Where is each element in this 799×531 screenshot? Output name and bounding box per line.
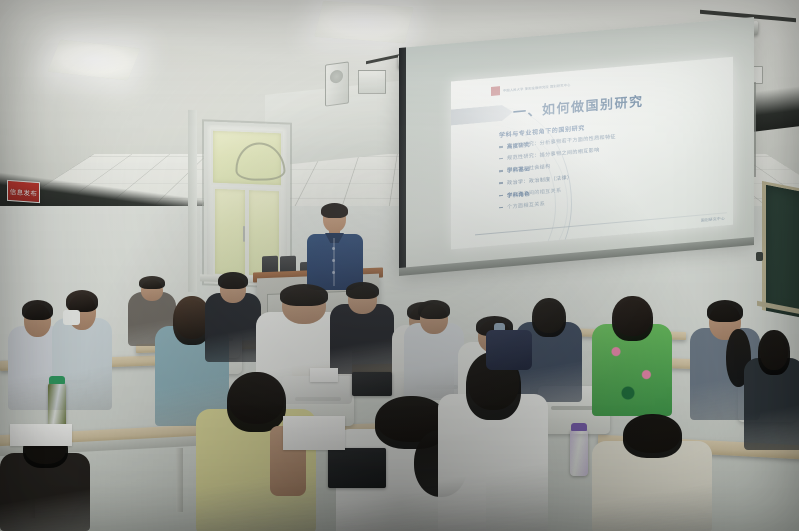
chalkboard [762,181,799,320]
audience-member [205,272,261,362]
person-hair [707,300,743,322]
presentation-slide: 中国人民大学 重阳金融研究院 国别研究中心 一、如何做国别研究 学科与专业视角下… [451,57,733,250]
backpack [486,330,532,370]
projection-screen: 中国人民大学 重阳金融研究院 国别研究中心 一、如何做国别研究 学科与专业视角下… [399,17,754,270]
door-jamb [188,110,197,292]
shirt-button-icon [332,271,335,274]
person-torso [330,304,394,374]
slide-logo-text: 中国人民大学 重阳金融研究院 国别研究中心 [503,81,571,92]
bullet-dash-icon [499,171,503,173]
window-handle[interactable] [243,226,245,242]
wall-sign-text: 信息发布 [10,186,38,198]
tablet-device [328,448,386,488]
person-hair [227,372,286,432]
face-mask-icon [63,310,80,325]
classroom-photo: 信息发布 ELECTRIC SCREEN 中国人民大学 重阳金融研究院 国别研究… [0,0,799,531]
shirt-button-icon [332,259,335,262]
person-hair [532,298,566,337]
bullet-dash-icon [499,146,503,148]
presenter [305,205,365,285]
slide-bullet-text: 政治学：政治制度（法律） [507,173,572,186]
person-hair [623,414,682,458]
bullet-dash-icon [499,195,503,197]
person-hair [758,330,790,375]
person-hair [418,300,450,319]
slide-bullet-text: 学科角色 [507,189,530,199]
window-pane-left [213,187,247,277]
bullet-dash-icon [499,207,503,209]
person-hair [612,296,653,341]
bottle-cap [49,376,65,384]
shirt-button-icon [332,247,335,250]
wall-sign: 信息发布 [7,180,40,203]
audience-member [196,372,316,531]
presenter-placket [333,238,335,286]
audience-member [592,414,712,531]
bullet-dash-icon [499,182,503,184]
arch-decoration [234,142,286,181]
board-knob [756,252,763,261]
person-hair [22,300,53,320]
audience-member [744,330,799,450]
desk-leg [176,448,183,512]
control-box [358,70,386,94]
slide-bullet-text: 高度研究 [507,141,530,151]
slide-footer: 国别研究中心 [701,216,725,223]
ceiling-light [314,1,413,43]
water-bottle [570,430,588,476]
audience-member [592,296,672,416]
person-hair [139,276,165,289]
bottle-cap [571,423,587,431]
audience-member [330,282,394,374]
slide-bullet-text: 学科基础 [507,165,530,175]
tablet-device [352,372,392,396]
presenter-hair [321,203,348,218]
screen-edge [399,47,406,270]
slide-bullet-text: 个方面相互关系 [507,200,545,210]
person-torso [205,293,261,362]
person-hair [218,272,248,289]
window-pane-top [211,129,283,188]
paper-sheet [10,424,72,446]
slide-logo: 中国人民大学 重阳金融研究院 国别研究中心 [491,79,571,96]
paper-sheet [310,368,338,382]
power-cord [754,82,756,177]
person-hair [346,282,379,299]
person-hair [280,284,328,306]
slide-title: 一、如何做国别研究 [513,91,644,121]
speaker-icon [325,61,349,106]
person-hair [66,290,98,312]
ceiling-light [47,40,140,81]
logo-mark-icon [491,86,500,96]
audience-member [438,352,548,531]
bullet-dash-icon [499,158,503,160]
paper-sheet [283,416,345,450]
